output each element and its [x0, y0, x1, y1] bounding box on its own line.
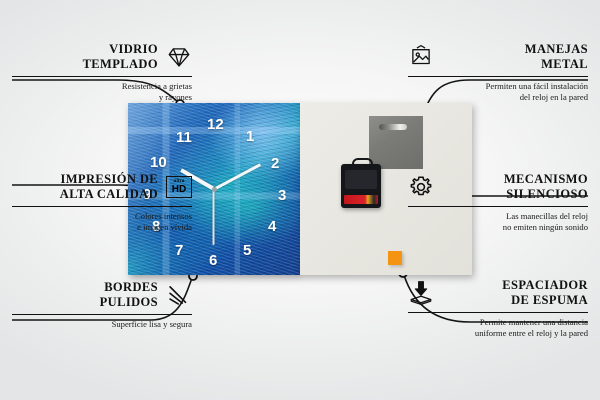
callout-silent-mechanism: MECANISMO SILENCIOSO Las manecillas del …	[408, 172, 588, 234]
callout-rule	[408, 206, 588, 207]
ultra-hd-icon: ultra HD	[166, 176, 192, 198]
callout-title-line1: IMPRESIÓN DE	[60, 172, 158, 187]
metal-hanger-plate	[369, 116, 423, 169]
callout-title-line2: ALTA CALIDAD	[60, 187, 158, 202]
ultra-hd-icon-ultra: ultra	[174, 179, 185, 184]
callout-desc-line1: Las manecillas del reloj	[408, 211, 588, 222]
callout-desc-line2: no emiten ningún sonido	[408, 222, 588, 233]
wall-frame-icon	[408, 44, 434, 70]
ultra-hd-icon-hd: HD	[172, 185, 186, 195]
callout-rule	[12, 314, 192, 315]
clock-numeral-4: 4	[268, 219, 276, 234]
callout-desc-line2: y rayones	[12, 92, 192, 103]
callout-desc-line2: e imagen vívida	[12, 222, 192, 233]
callout-title-line1: MECANISMO	[442, 172, 588, 187]
callout-title-line2: PULIDOS	[100, 295, 158, 310]
callout-metal-handles: MANEJAS METAL Permiten una fácil instala…	[408, 42, 588, 104]
callout-title-line1: VIDRIO	[83, 42, 158, 57]
callout-rule	[408, 312, 588, 313]
clock-numeral-12: 12	[207, 117, 224, 132]
callout-high-quality-print: IMPRESIÓN DE ALTA CALIDAD ultra HD Color…	[12, 172, 192, 234]
hanger-slot	[379, 124, 407, 130]
callout-rule	[408, 76, 588, 77]
foam-spacer-pad	[388, 251, 402, 265]
polished-edges-icon	[166, 282, 192, 308]
callout-desc-line1: Permiten una fácil instalación	[408, 81, 588, 92]
movement-battery	[344, 195, 378, 204]
callout-title-line2: TEMPLADO	[83, 57, 158, 72]
movement-hanging-loop	[352, 158, 373, 169]
callout-title-line2: METAL	[442, 57, 588, 72]
callout-title-line1: BORDES	[100, 280, 158, 295]
callout-desc-line1: Permite mantener una distancia	[408, 317, 588, 328]
gear-icon	[408, 174, 434, 200]
clock-numeral-6: 6	[209, 253, 217, 268]
callout-desc-line1: Superficie lisa y segura	[12, 319, 192, 330]
diamond-icon	[166, 44, 192, 70]
clock-numeral-1: 1	[246, 129, 254, 144]
callout-polished-edges: BORDES PULIDOS Superficie lisa y segura	[12, 280, 192, 330]
clock-numeral-7: 7	[175, 243, 183, 258]
callout-title-line2: DE ESPUMA	[442, 293, 588, 308]
clock-numeral-2: 2	[271, 156, 279, 171]
callout-title-line1: MANEJAS	[442, 42, 588, 57]
clock-movement	[341, 164, 381, 208]
callout-desc-line2: uniforme entre el reloj y la pared	[408, 328, 588, 339]
callout-desc-line1: Colores intensos	[12, 211, 192, 222]
callout-foam-spacer: ESPACIADOR DE ESPUMA Permite mantener un…	[408, 278, 588, 340]
infographic-canvas: 12 1 2 3 4 5 6 7 8 9 10 11	[0, 0, 600, 400]
callout-desc-line2: del reloj en la pared	[408, 92, 588, 103]
press-down-icon	[408, 280, 434, 306]
callout-title-line2: SILENCIOSO	[442, 187, 588, 202]
callout-tempered-glass: VIDRIO TEMPLADO Resistencia a grietas y …	[12, 42, 192, 104]
callout-rule	[12, 76, 192, 77]
clock-hand-pivot	[212, 187, 217, 192]
clock-numeral-3: 3	[278, 188, 286, 203]
callout-desc-line1: Resistencia a grietas	[12, 81, 192, 92]
callout-rule	[12, 206, 192, 207]
callout-title-line1: ESPACIADOR	[442, 278, 588, 293]
movement-body	[345, 170, 377, 189]
clock-numeral-5: 5	[243, 243, 251, 258]
clock-numeral-11: 11	[176, 130, 192, 145]
clock-numeral-10: 10	[150, 155, 167, 170]
